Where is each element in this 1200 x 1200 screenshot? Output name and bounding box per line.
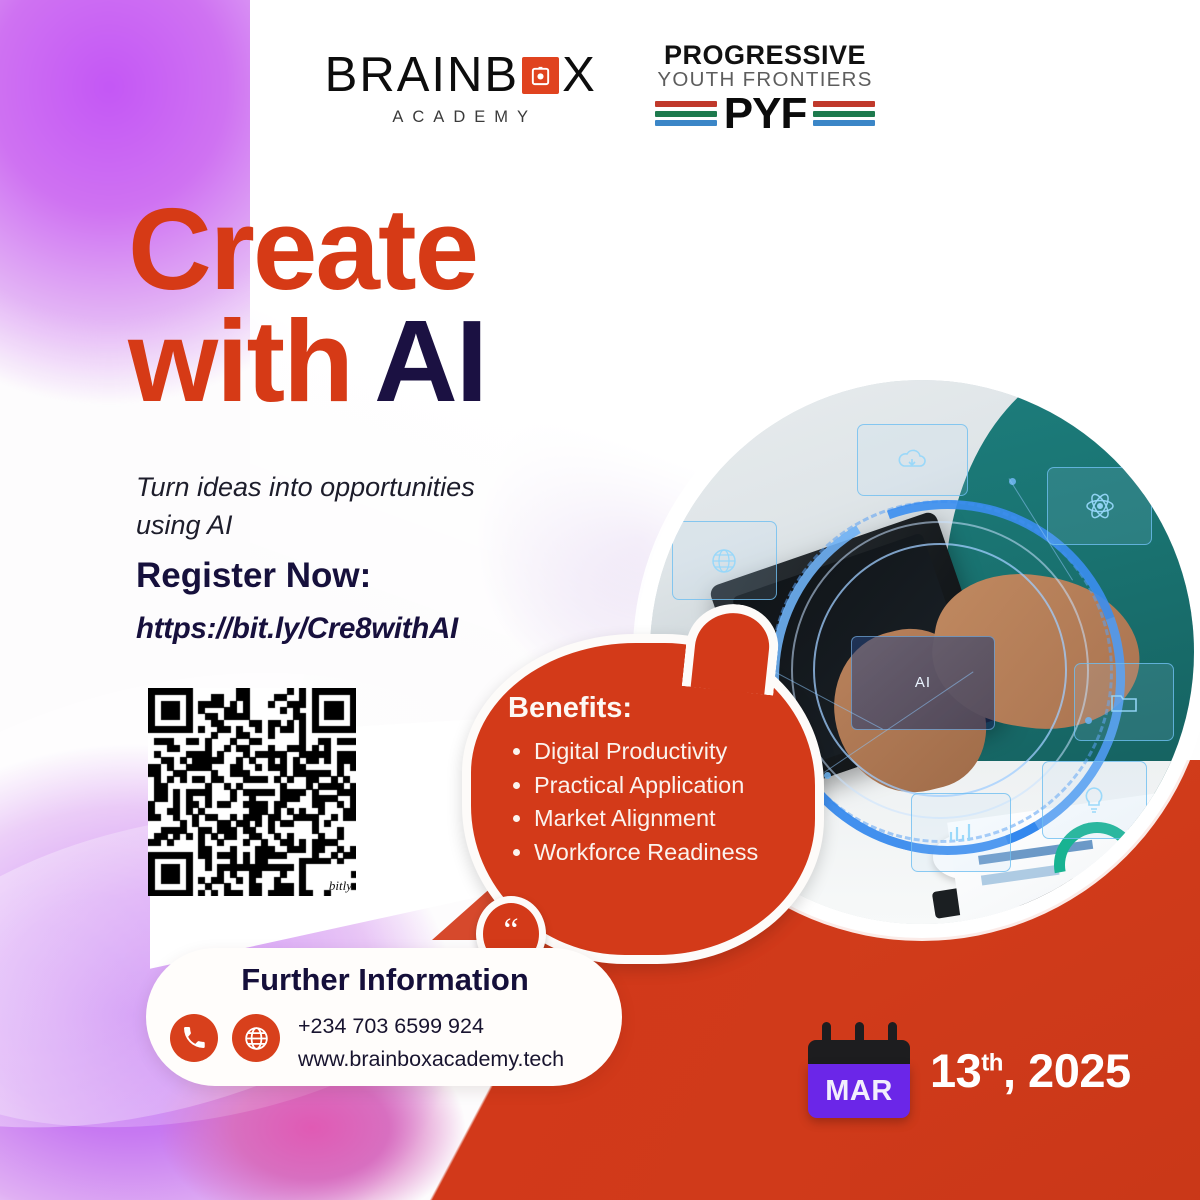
brainbox-subtitle: ACADEMY: [384, 108, 537, 127]
event-date: MAR 13th, 2025: [808, 1022, 1131, 1118]
qr-code-canvas[interactable]: [148, 688, 356, 896]
lightbulb-icon: [1042, 761, 1147, 839]
poster-canvas: BRAINB X ACADEMY PROGRESSIVE YOUTH FRONT…: [0, 0, 1200, 1200]
contact-card: Further Information +234 703 6599 924 ww…: [146, 948, 622, 1086]
benefits-title: Benefits:: [508, 692, 788, 725]
event-day: 13: [930, 1044, 981, 1097]
benefits-bubble: Benefits: Digital Productivity Practical…: [462, 634, 824, 964]
pyf-acronym-row: PYF: [655, 92, 876, 136]
event-year: , 2025: [1003, 1044, 1131, 1097]
contact-title: Further Information: [170, 962, 600, 998]
contact-details: +234 703 6599 924 www.brainboxacademy.te…: [298, 1010, 564, 1075]
pyf-bars-left: [655, 101, 717, 126]
contact-phone[interactable]: +234 703 6599 924: [298, 1010, 564, 1043]
calendar-body: MAR: [808, 1064, 910, 1118]
chart-icon: [911, 793, 1011, 871]
headline-with: with: [128, 296, 352, 426]
benefits-content: Benefits: Digital Productivity Practical…: [508, 692, 788, 869]
pyf-line2: YOUTH FRONTIERS: [657, 70, 872, 91]
calendar-header: [808, 1040, 910, 1066]
qr-code[interactable]: bitly: [148, 688, 356, 896]
event-day-ordinal: th: [981, 1049, 1003, 1076]
cloud-icon: [857, 424, 968, 497]
register-url[interactable]: https://bit.ly/Cre8withAI: [136, 612, 458, 646]
benefits-list: Digital Productivity Practical Applicati…: [508, 735, 788, 869]
pyf-line1: PROGRESSIVE: [664, 42, 866, 69]
hud-node: [824, 772, 831, 779]
list-item: Market Alignment: [534, 802, 788, 836]
headline-ai: AI: [374, 296, 486, 426]
headline-line1: Create: [128, 196, 486, 304]
phone-icon[interactable]: [170, 1014, 218, 1062]
event-date-text: 13th, 2025: [930, 1043, 1131, 1098]
brainbox-logo: BRAINB X ACADEMY: [325, 51, 597, 127]
pyf-bars-right: [813, 101, 875, 126]
list-item: Digital Productivity: [534, 735, 788, 769]
ai-chip-label: AI: [851, 636, 994, 730]
pyf-logo: PROGRESSIVE YOUTH FRONTIERS PYF: [655, 42, 876, 136]
calendar-icon: MAR: [808, 1022, 910, 1118]
headline: Create withAI: [128, 196, 486, 416]
brain-box-icon: [522, 57, 559, 94]
contact-icon-group: [170, 1014, 280, 1062]
contact-website[interactable]: www.brainboxacademy.tech: [298, 1043, 564, 1076]
atom-icon: [1047, 467, 1152, 545]
brainbox-wordmark: BRAINB X: [325, 51, 597, 100]
qr-bitly-label: bitly: [329, 878, 352, 894]
globe-icon: [672, 521, 777, 599]
globe-icon[interactable]: [232, 1014, 280, 1062]
list-item: Practical Application: [534, 769, 788, 803]
calendar-month: MAR: [825, 1075, 893, 1108]
list-item: Workforce Readiness: [534, 836, 788, 870]
brainbox-text-part1: BRAINB: [325, 51, 519, 100]
headline-line2: withAI: [128, 308, 486, 416]
brainbox-text-part2: X: [562, 51, 597, 100]
folder-icon: [1074, 663, 1174, 741]
pyf-acronym: PYF: [724, 92, 807, 136]
register-label: Register Now:: [136, 556, 371, 596]
tagline: Turn ideas into opportunities using AI: [136, 468, 536, 545]
logo-bar: BRAINB X ACADEMY PROGRESSIVE YOUTH FRONT…: [0, 34, 1200, 144]
